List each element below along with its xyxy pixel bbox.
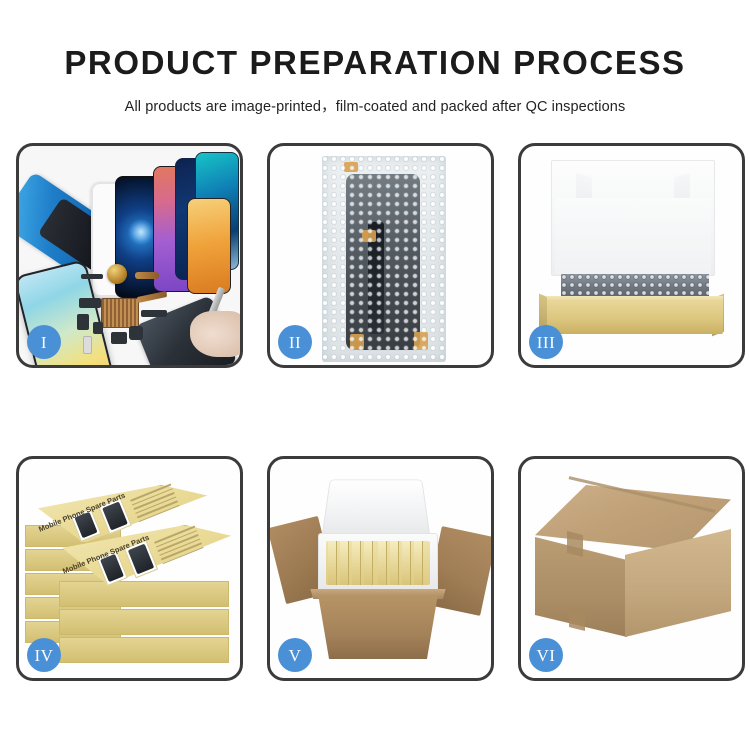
small-part (81, 274, 103, 279)
box-front-panel (547, 300, 723, 334)
small-part (129, 326, 143, 340)
step-badge-2: II (278, 325, 312, 359)
process-step-panel-4[interactable]: Mobile Phone Spare Parts Mobile Phone Sp… (16, 456, 243, 681)
small-part (141, 310, 167, 317)
box-stack: Mobile Phone Spare Parts Mobile Phone Sp… (25, 481, 237, 667)
box-edge (59, 581, 229, 607)
sim-tray-part (83, 336, 92, 354)
box-edge (59, 637, 229, 663)
speaker-module (107, 264, 127, 284)
small-part (93, 322, 103, 334)
process-step-panel-3[interactable]: III (518, 143, 745, 368)
page-title: PRODUCT PREPARATION PROCESS (0, 46, 750, 79)
process-steps-grid: I II (16, 143, 734, 681)
amber-phone (187, 198, 231, 294)
carton-tape-lower (569, 607, 585, 631)
process-step-panel-5[interactable]: V (267, 456, 494, 681)
foam-sheet (555, 198, 711, 274)
product-preparation-process-page: PRODUCT PREPARATION PROCESS All products… (0, 0, 750, 750)
header: PRODUCT PREPARATION PROCESS All products… (0, 0, 750, 116)
step-badge-3: III (529, 325, 563, 359)
step-badge-4: IV (27, 638, 61, 672)
small-part (111, 332, 127, 344)
tape-strip (414, 332, 428, 350)
page-subtitle: All products are image-printed，film-coat… (0, 95, 750, 116)
styrofoam-lid (321, 479, 430, 537)
small-part (77, 314, 89, 330)
carton-tape-upper (567, 531, 583, 557)
packed-yellow-boxes (326, 541, 430, 585)
tape-strip (350, 334, 364, 350)
step-badge-6: VI (529, 638, 563, 672)
step-badge-5: V (278, 638, 312, 672)
box-edge (59, 609, 229, 635)
flex-cable-part (135, 272, 159, 279)
tape-strip (362, 230, 376, 242)
process-step-panel-2[interactable]: II (267, 143, 494, 368)
bubble-wrap-bag (322, 156, 446, 362)
logic-board-chip (101, 298, 139, 328)
small-part (79, 298, 101, 308)
carton-body (310, 595, 446, 659)
tape-strip (344, 162, 358, 172)
step-badge-1: I (27, 325, 61, 359)
process-step-panel-6[interactable]: VI (518, 456, 745, 681)
process-step-panel-1[interactable]: I (16, 143, 243, 368)
technician-hand (190, 311, 240, 357)
